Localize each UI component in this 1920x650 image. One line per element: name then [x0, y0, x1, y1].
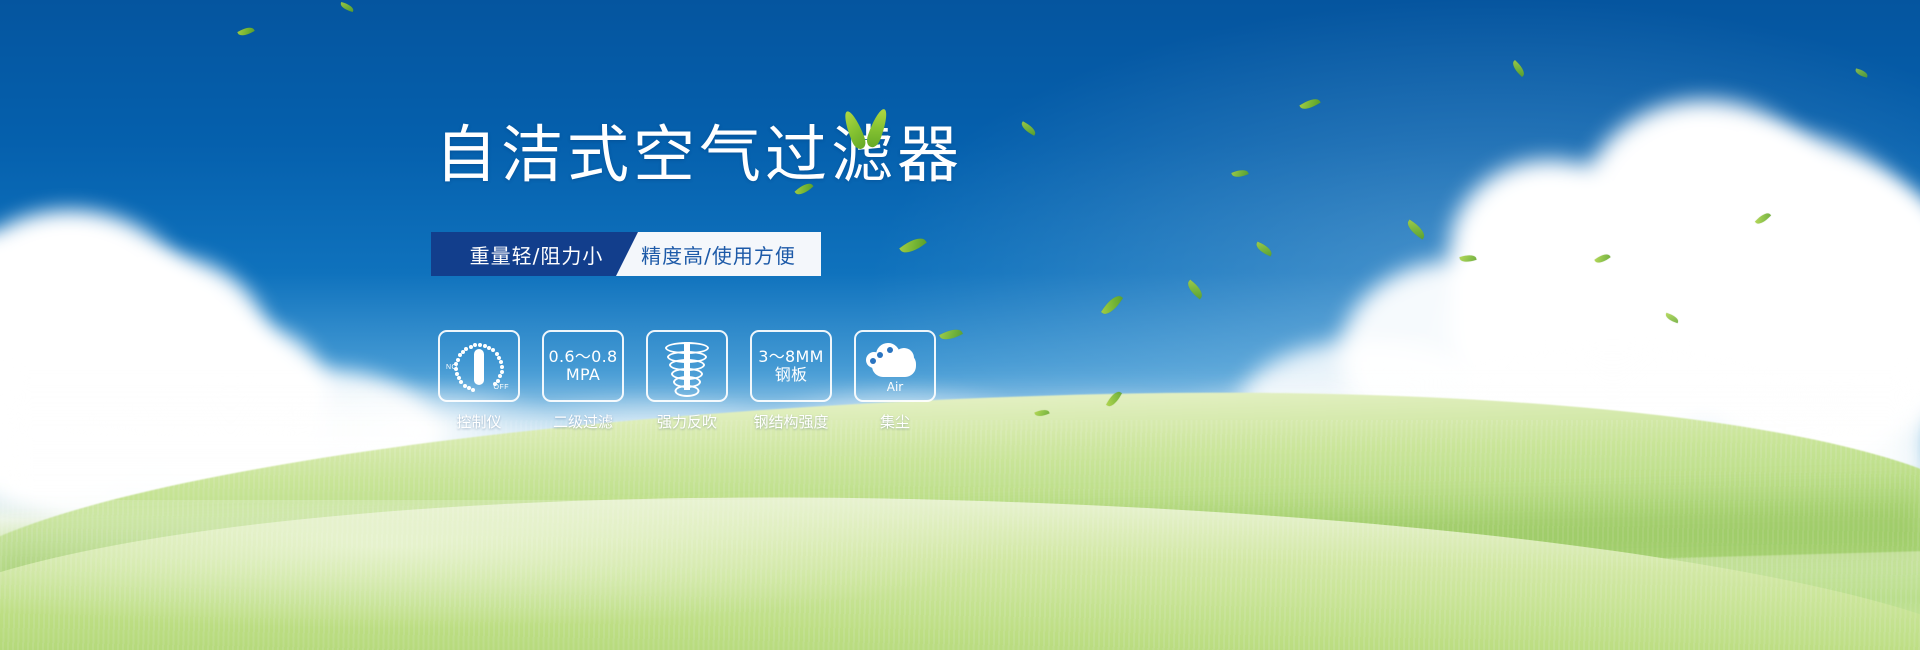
- feature-icon-box: [646, 330, 728, 402]
- feature-item-steel-strength[interactable]: 3～8MM 钢板 钢结构强度: [750, 330, 832, 432]
- dial-tick: [467, 386, 471, 390]
- dial-gauge-icon: NO OFF: [448, 338, 510, 394]
- feature-label-steel-strength: 钢结构强度: [753, 411, 828, 432]
- dial-tick: [495, 352, 499, 356]
- dial-tick: [458, 353, 462, 357]
- feature-label-two-stage-filter: 二级过滤: [553, 411, 613, 432]
- dial-tick: [500, 365, 504, 369]
- dial-tick: [464, 347, 468, 351]
- dial-tick: [455, 372, 459, 376]
- dial-tick: [499, 360, 503, 364]
- feature-label-dust-collection: 集尘: [880, 411, 910, 432]
- tagline-left-text: 重量轻/阻力小: [431, 232, 642, 276]
- feature-icon-box: Air: [854, 330, 936, 402]
- feature-item-controller[interactable]: NO OFF 控制仪: [438, 330, 520, 432]
- tagline-right-text: 精度高/使用方便: [616, 232, 821, 276]
- coil-ring: [675, 385, 700, 397]
- dial-tick: [498, 374, 502, 378]
- feature-icon-box: 3～8MM 钢板: [750, 330, 832, 402]
- feature-icon-box: 0.6～0.8 MPA: [542, 330, 624, 402]
- dial-tick: [473, 343, 477, 347]
- dust-cloud-air-icon: Air: [864, 339, 926, 393]
- steel-plate-text-icon: 3～8MM 钢板: [758, 348, 823, 384]
- dial-tick: [496, 379, 500, 383]
- dial-tick: [478, 343, 482, 347]
- steel-line-1: 3～8MM: [758, 348, 823, 366]
- filter-coil-icon: [664, 338, 710, 394]
- feature-list: NO OFF 控制仪 0.6～0.8 MPA 二级过滤: [438, 330, 936, 432]
- feature-item-two-stage-filter[interactable]: 0.6～0.8 MPA 二级过滤: [542, 330, 624, 432]
- dial-tick: [456, 358, 460, 362]
- feature-item-dust-collection[interactable]: Air 集尘: [854, 330, 936, 432]
- feature-item-backblow[interactable]: 强力反吹: [646, 330, 728, 432]
- dial-tick: [483, 344, 487, 348]
- pressure-text-icon: 0.6～0.8 MPA: [549, 348, 618, 384]
- tagline-bar: 重量轻/阻力小 精度高/使用方便: [431, 232, 821, 276]
- feature-icon-box: NO OFF: [438, 330, 520, 402]
- sprout-leaf-icon: [838, 104, 898, 154]
- dial-tick: [469, 345, 473, 349]
- dial-tick: [500, 370, 504, 374]
- air-label: Air: [864, 380, 926, 394]
- dial-tick: [471, 388, 475, 392]
- dial-tick: [497, 356, 501, 360]
- feature-label-controller: 控制仪: [456, 411, 501, 432]
- dial-tick: [463, 384, 467, 388]
- steel-line-2: 钢板: [758, 366, 823, 384]
- feature-label-backblow: 强力反吹: [657, 411, 717, 432]
- pressure-line-2: MPA: [549, 366, 618, 384]
- hero-banner: 自洁式空气过滤器 重量轻/阻力小 精度高/使用方便 NO OFF 控制仪: [0, 0, 1920, 650]
- banner-content: 自洁式空气过滤器 重量轻/阻力小 精度高/使用方便 NO OFF 控制仪: [0, 0, 1920, 650]
- pressure-line-1: 0.6～0.8: [549, 348, 618, 366]
